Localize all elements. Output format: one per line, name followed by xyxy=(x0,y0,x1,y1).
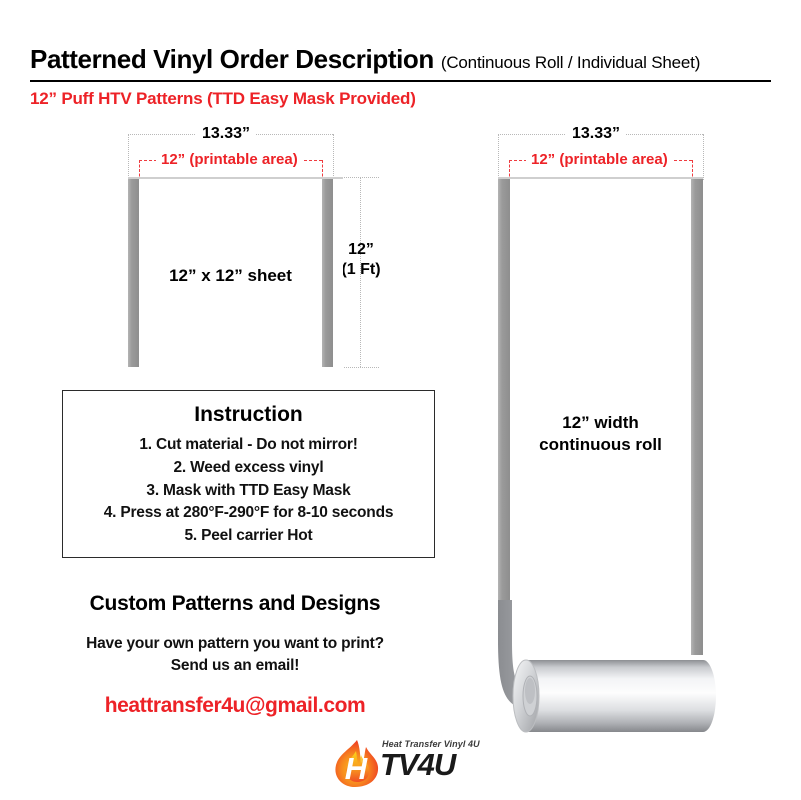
instruction-step: 4. Press at 280°F-290°F for 8-10 seconds xyxy=(63,502,434,525)
sheet-outer-dim-tick-right xyxy=(333,134,334,180)
custom-patterns-line2: Send us an email! xyxy=(0,655,470,677)
instruction-title: Instruction xyxy=(63,403,434,427)
sheet-printable-dim-label: 12” (printable area) xyxy=(156,151,303,168)
instruction-box: Instruction 1. Cut material - Do not mir… xyxy=(62,390,435,558)
flame-icon: H xyxy=(330,736,386,790)
instruction-step: 2. Weed excess vinyl xyxy=(63,457,434,480)
sheet-outer-dim-label: 13.33” xyxy=(196,125,256,143)
contact-email[interactable]: heattransfer4u@gmail.com xyxy=(0,694,470,718)
sheet-center-label: 12” x 12” sheet xyxy=(139,266,322,286)
custom-patterns-line1: Have your own pattern you want to print? xyxy=(0,633,470,655)
logo-wordmark: TV4U xyxy=(380,747,455,783)
sheet-edge-bar-left xyxy=(128,179,139,367)
custom-patterns-title: Custom Patterns and Designs xyxy=(0,592,470,616)
instruction-step: 3. Mask with TTD Easy Mask xyxy=(63,480,434,503)
instruction-step: 1. Cut material - Do not mirror! xyxy=(63,434,434,457)
instruction-step: 5. Peel carrier Hot xyxy=(63,525,434,548)
sheet-diagram: 13.33” 12” (printable area) 12” (1 Ft) 1… xyxy=(0,0,460,380)
roll-diagram: 13.33” 12” (printable area) 12” width co… xyxy=(460,0,801,800)
custom-patterns-body: Have your own pattern you want to print?… xyxy=(0,633,470,678)
brand-logo: H Heat Transfer Vinyl 4U TV4U xyxy=(330,736,490,790)
svg-text:H: H xyxy=(345,751,368,786)
order-description-infographic: Patterned Vinyl Order Description (Conti… xyxy=(0,0,801,800)
custom-patterns-block: Custom Patterns and Designs Have your ow… xyxy=(0,592,470,718)
sheet-edge-bar-right xyxy=(322,179,333,367)
sheet-outer-dim-tick-left xyxy=(128,134,129,180)
